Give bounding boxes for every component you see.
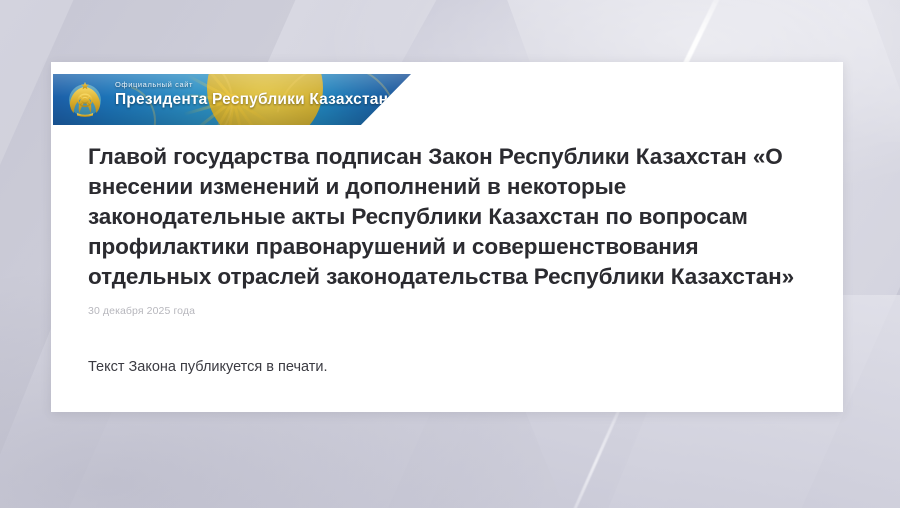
akorda-banner[interactable]: Официальный сайт Президента Республики К… [53, 74, 411, 125]
screenshot-root: Официальный сайт Президента Республики К… [0, 0, 900, 508]
kazakhstan-coat-of-arms-icon [65, 79, 105, 120]
article-block: Главой государства подписан Закон Респуб… [88, 142, 795, 378]
banner-text-block: Официальный сайт Президента Республики К… [115, 81, 388, 108]
news-card: Официальный сайт Президента Республики К… [51, 62, 843, 412]
article-headline: Главой государства подписан Закон Респуб… [88, 142, 795, 292]
banner-subtitle: Официальный сайт [115, 81, 388, 89]
article-body-text: Текст Закона публикуется в печати. [88, 357, 795, 379]
banner-title: Президента Республики Казахстан [115, 92, 388, 108]
article-publish-date: 30 декабря 2025 года [88, 305, 795, 317]
